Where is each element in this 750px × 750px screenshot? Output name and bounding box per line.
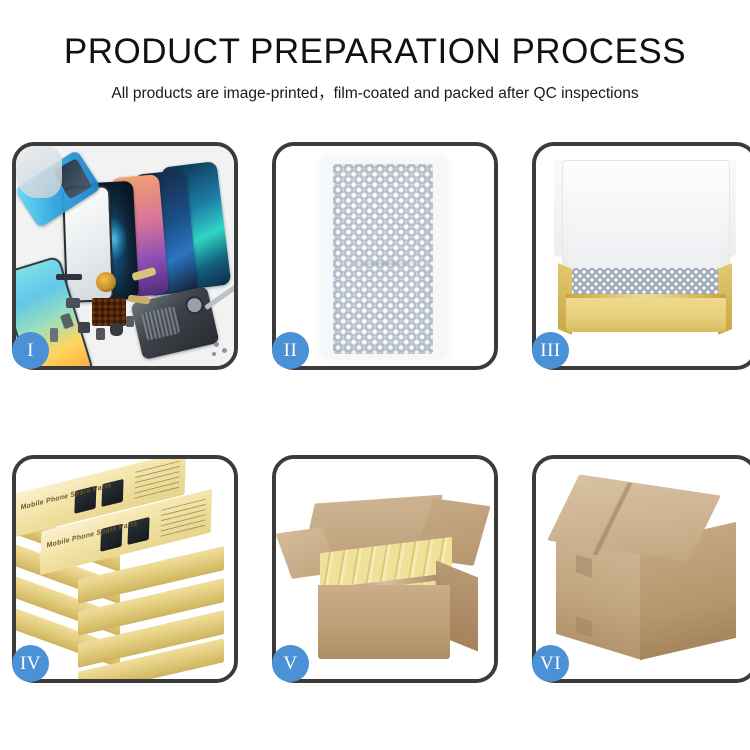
sealed-carton-scene [536, 459, 750, 679]
step-image-5 [276, 459, 494, 679]
step-badge-5: V [272, 645, 309, 682]
page-header: PRODUCT PREPARATION PROCESS All products… [0, 0, 750, 105]
step-badge-2: II [272, 332, 309, 369]
connector-grid-part-icon [92, 298, 126, 326]
open-box-scene [536, 146, 750, 366]
screw-part-1-icon [214, 342, 219, 347]
stacked-boxes-scene: Mobile Phone Spare Parts Mobile Phone Sp… [16, 459, 234, 679]
step-image-6 [536, 459, 750, 679]
carton-front-panel [318, 585, 450, 659]
bubble-wrap-scene [276, 146, 494, 366]
step-image-2 [276, 146, 494, 366]
step-badge-3: III [532, 332, 569, 369]
step-image-3 [536, 146, 750, 366]
chip-part-1-icon [66, 298, 80, 308]
screw-part-3-icon [212, 352, 216, 356]
step-badge-4: IV [12, 645, 49, 682]
chip-part-7-icon [50, 328, 58, 342]
step-panel-6: VI [532, 455, 750, 683]
step-badge-1: I [12, 332, 49, 369]
page-title: PRODUCT PREPARATION PROCESS [0, 31, 750, 73]
phones-and-parts-scene [16, 146, 234, 366]
box-front-panel [566, 298, 726, 332]
step-image-1 [16, 146, 234, 366]
step-panel-5: V [272, 455, 498, 683]
chip-part-5-icon [110, 324, 123, 336]
step-panel-1: I [12, 142, 238, 370]
open-carton-scene [276, 459, 494, 679]
bubble-wrap-bubbles [333, 164, 433, 354]
bar-part-icon [56, 274, 82, 280]
page-subtitle: All products are image-printed，film-coat… [0, 83, 750, 105]
step-panel-4: Mobile Phone Spare Parts Mobile Phone Sp… [12, 455, 238, 683]
step-image-4: Mobile Phone Spare Parts Mobile Phone Sp… [16, 459, 234, 679]
coil-part-icon [96, 272, 116, 292]
chip-part-4-icon [96, 328, 105, 340]
step-badge-6: VI [532, 645, 569, 682]
step-panel-2: II [272, 142, 498, 370]
chip-part-3-icon [78, 322, 90, 333]
process-steps-grid: I II III [12, 142, 738, 683]
screw-part-2-icon [222, 348, 227, 353]
hand-icon [16, 146, 62, 198]
flex-cable-part-2-icon [128, 295, 151, 305]
bubble-wrap-seam [333, 262, 433, 265]
step-panel-3: III [532, 142, 750, 370]
box-inner-foam [569, 202, 721, 272]
chip-part-6-icon [126, 316, 134, 327]
